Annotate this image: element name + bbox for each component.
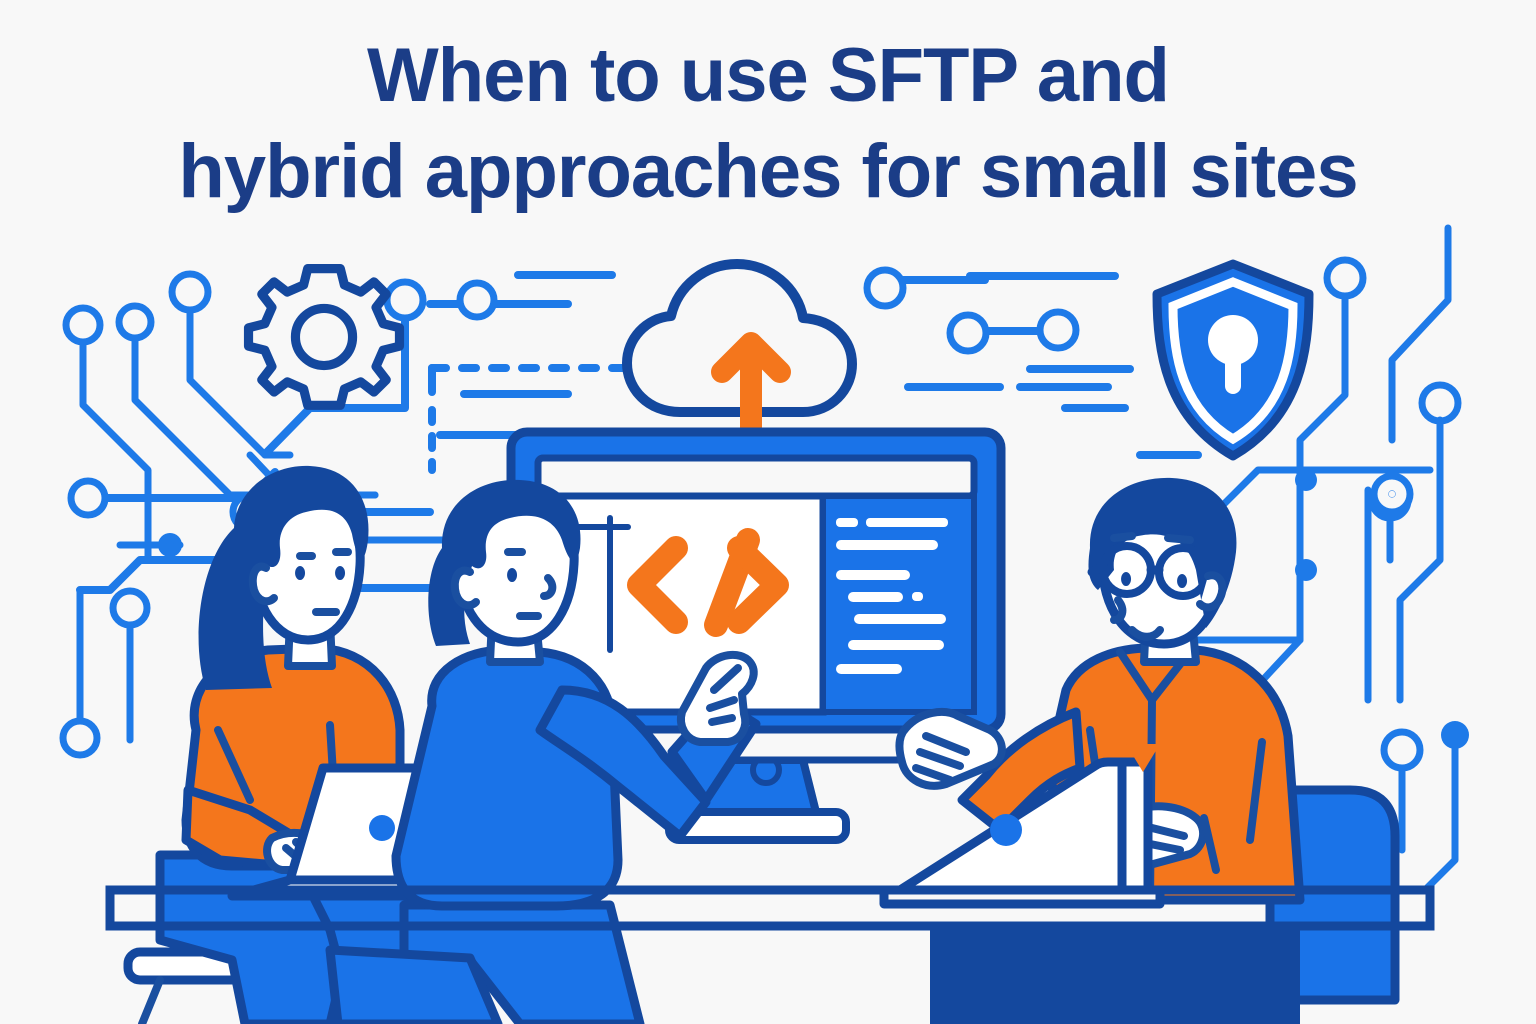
banner-illustration: .ln{fill:none;stroke:#1E7AE8;stroke-widt…	[0, 0, 1536, 1024]
illustration-banner: .ln{fill:none;stroke:#1E7AE8;stroke-widt…	[0, 0, 1536, 1024]
